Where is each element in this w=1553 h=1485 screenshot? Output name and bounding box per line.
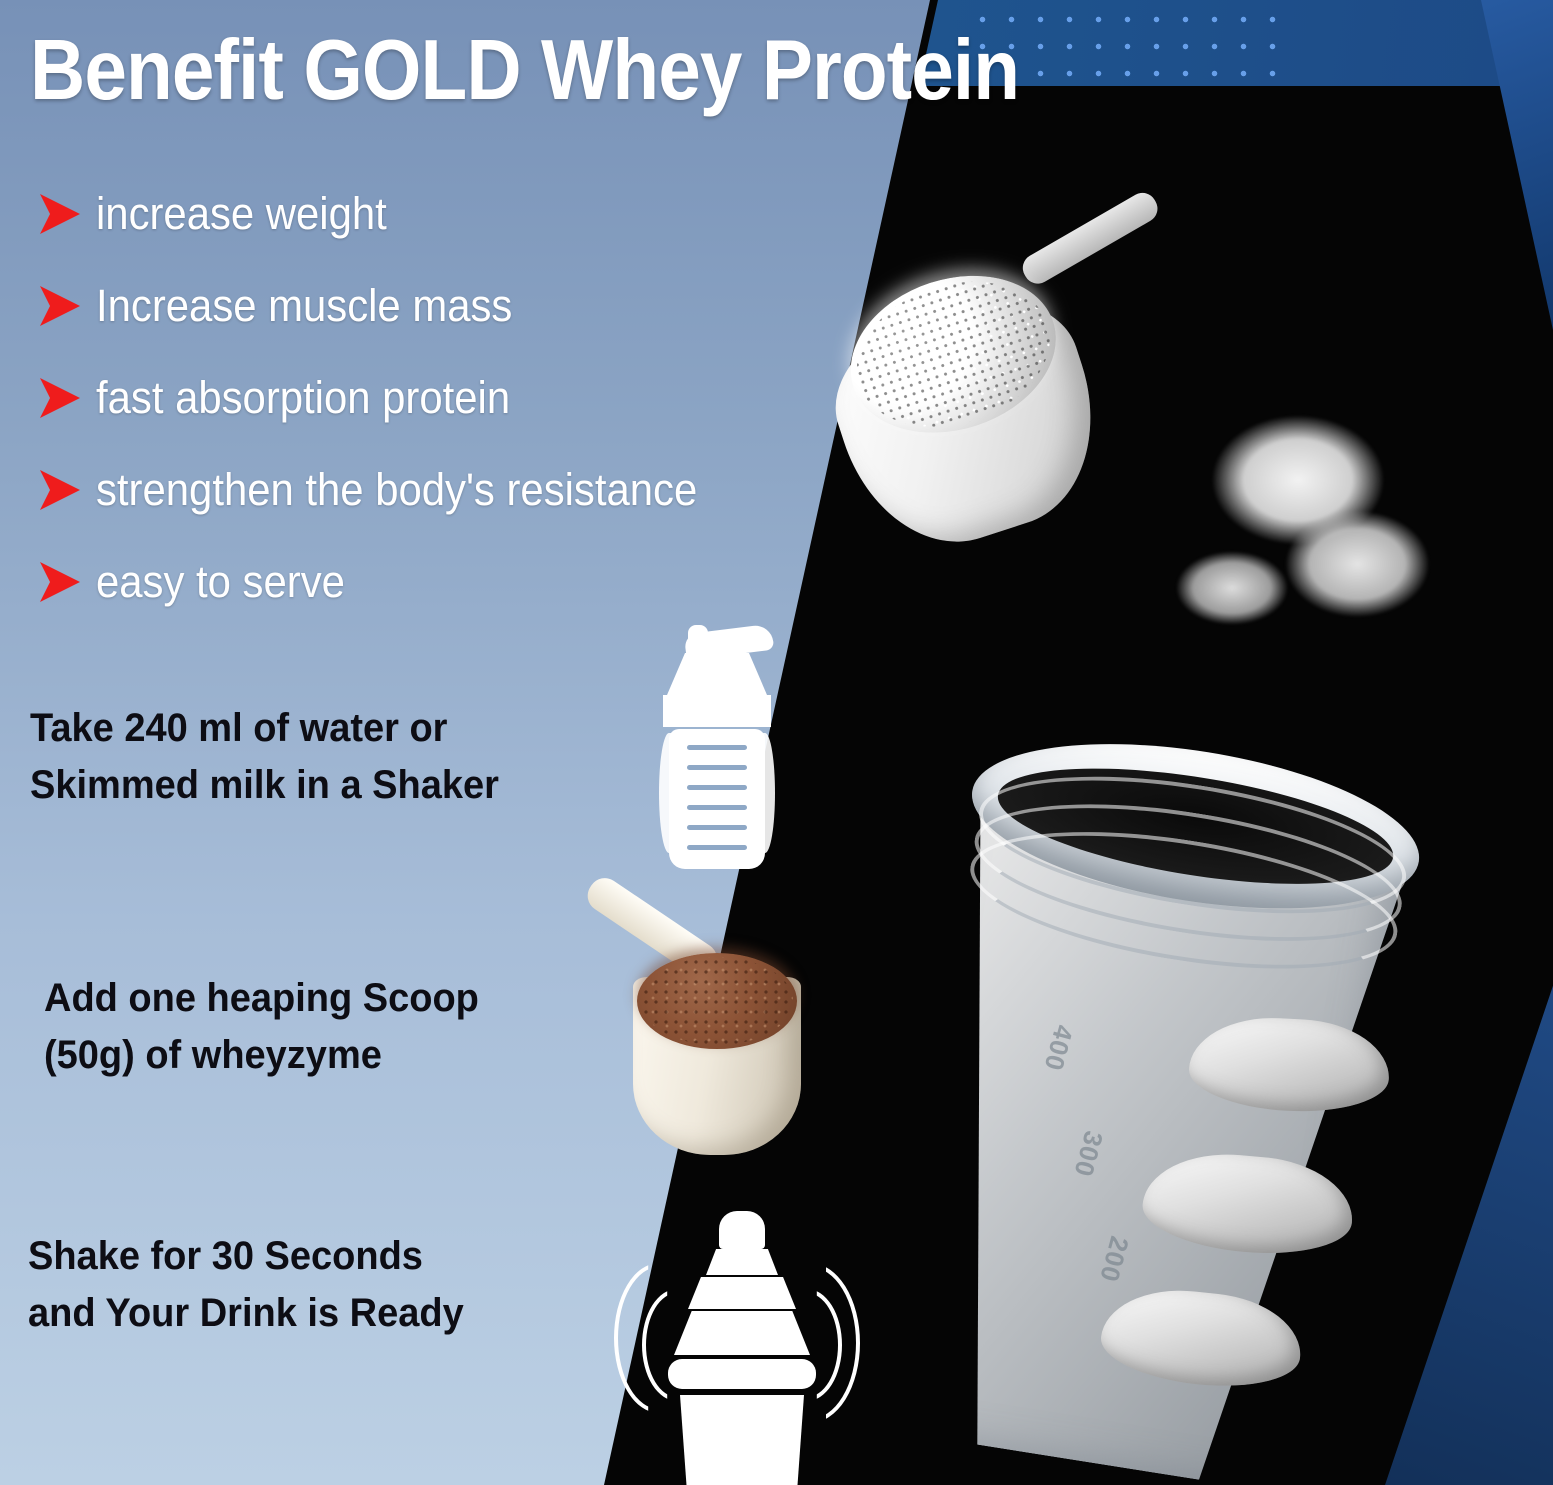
list-item: fast absorption protein: [24, 352, 884, 444]
list-item: Increase muscle mass: [24, 260, 884, 352]
bottle-collar: [663, 695, 771, 727]
step-1-line-2: Skimmed milk in a Shaker: [30, 757, 499, 814]
step-2-text: Add one heaping Scoop (50g) of wheyzyme: [44, 970, 479, 1084]
bottle-cap: [667, 653, 767, 695]
step-2-line-2: (50g) of wheyzyme: [44, 1027, 479, 1084]
chevron-right-arrow-icon: [24, 376, 96, 420]
chocolate-powder: [637, 953, 797, 1049]
chevron-right-arrow-icon: [24, 284, 96, 328]
usage-step-1: Take 240 ml of water or Skimmed milk in …: [30, 700, 524, 814]
list-item: easy to serve: [24, 536, 884, 628]
benefit-label: Increase muscle mass: [96, 280, 512, 332]
shaker-neck-lower: [688, 1277, 796, 1309]
benefit-label: increase weight: [96, 188, 387, 240]
step-2-line-1: Add one heaping Scoop: [44, 970, 479, 1027]
chevron-right-arrow-icon: [24, 560, 96, 604]
shaker-cup-icon: 400 300 200: [876, 718, 1454, 1485]
scoop-handle: [1018, 188, 1163, 289]
shaker-body: [680, 1395, 804, 1485]
cocktail-shaker-icon: [620, 1205, 865, 1455]
usage-step-3: Shake for 30 Seconds and Your Drink is R…: [28, 1228, 487, 1342]
chevron-right-arrow-icon: [24, 192, 96, 236]
benefit-label: strengthen the body's resistance: [96, 464, 697, 516]
shaker-bottle-icon: [655, 625, 780, 870]
step-1-line-1: Take 240 ml of water or: [30, 700, 499, 757]
chevron-right-arrow-icon: [24, 468, 96, 512]
usage-step-2: Add one heaping Scoop (50g) of wheyzyme: [44, 970, 502, 1084]
step-3-text: Shake for 30 Seconds and Your Drink is R…: [28, 1228, 464, 1342]
measuring-scoop-icon: [585, 865, 810, 1160]
list-item: increase weight: [24, 168, 884, 260]
bottle-measure-line: [687, 825, 747, 830]
step-3-line-1: Shake for 30 Seconds: [28, 1228, 464, 1285]
benefit-label: fast absorption protein: [96, 372, 510, 424]
shaker-knob: [719, 1211, 765, 1249]
benefits-list: increase weight Increase muscle mass fas…: [24, 168, 884, 628]
step-1-text: Take 240 ml of water or Skimmed milk in …: [30, 700, 499, 814]
benefit-label: easy to serve: [96, 556, 345, 608]
bottle-measure-line: [687, 845, 747, 850]
step-3-line-2: and Your Drink is Ready: [28, 1285, 464, 1342]
shaker-band: [668, 1359, 816, 1389]
bottle-measure-line: [687, 805, 747, 810]
shaker-neck-upper: [706, 1249, 778, 1275]
shaker-shoulder: [674, 1311, 810, 1355]
list-item: strengthen the body's resistance: [24, 444, 884, 536]
promo-poster: 400 300 200 Benefit GOLD Whey Protein in…: [0, 0, 1553, 1485]
page-title: Benefit GOLD Whey Protein: [30, 28, 1019, 113]
bottle-measure-line: [687, 765, 747, 770]
bottle-measure-line: [687, 745, 747, 750]
bottle-measure-line: [687, 785, 747, 790]
